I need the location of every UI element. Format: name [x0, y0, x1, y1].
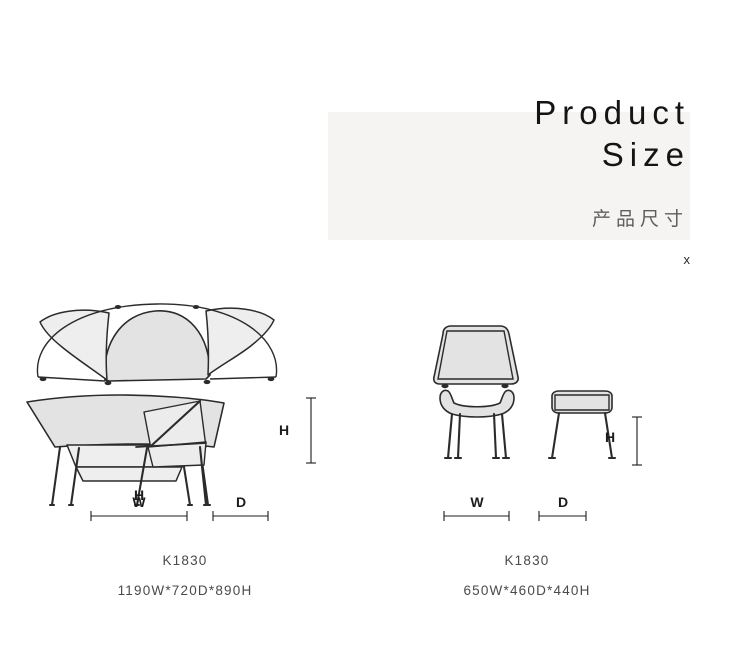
stool-side-view: [549, 391, 615, 458]
stool-width-dimension-line: [444, 511, 509, 521]
chair-dimensions-text: 1190W*720D*890H: [10, 583, 360, 598]
chair-width-label: W: [109, 494, 169, 510]
stool-height-label: H: [590, 429, 630, 445]
page-subtitle-chinese: 产品尺寸: [330, 204, 688, 231]
chair-height-dimension-line: [306, 398, 316, 463]
stool-technical-drawing: [352, 295, 702, 545]
stool-front-view: [440, 390, 514, 458]
product-group-chair: H H W D K1830 1190W*720D*890H: [10, 295, 360, 605]
product-group-stool: H W D K1830 650W*460D*440H: [352, 295, 702, 605]
chair-model-number: K1830: [10, 553, 360, 568]
stool-model-number: K1830: [352, 553, 702, 568]
page-header: Product Size 产品尺寸 x: [0, 0, 750, 290]
stool-depth-label: D: [543, 494, 583, 510]
stool-depth-dimension-line: [539, 511, 586, 521]
header-mark-x: x: [330, 252, 690, 267]
chair-depth-dimension-line: [213, 511, 268, 521]
stool-dimensions-text: 650W*460D*440H: [352, 583, 702, 598]
chair-height-label: H: [264, 422, 304, 438]
stool-top-view: [434, 326, 518, 388]
chair-top-view: [37, 304, 276, 385]
chair-technical-drawing: [10, 295, 360, 545]
stool-height-dimension-line: [632, 417, 642, 465]
stool-width-label: W: [457, 494, 497, 510]
chair-depth-label: D: [220, 494, 262, 510]
page-title: Product Size: [330, 92, 690, 176]
chair-width-dimension-line: [91, 511, 187, 521]
